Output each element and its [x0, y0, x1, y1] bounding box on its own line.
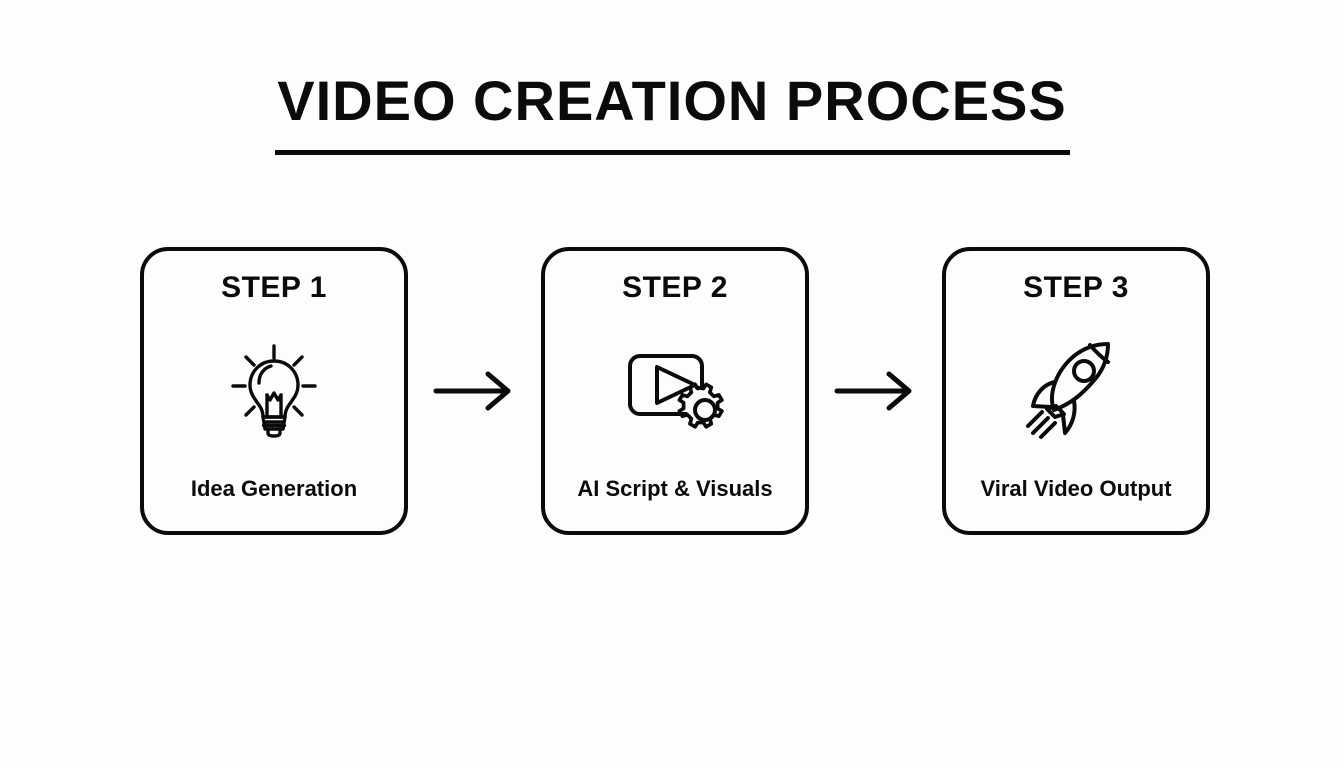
arrow-right-icon-1 [425, 368, 525, 414]
page-title: VIDEO CREATION PROCESS [0, 72, 1344, 131]
step-3-label: Viral Video Output [980, 477, 1171, 531]
lightbulb-icon [144, 304, 404, 477]
step-1-label: Idea Generation [191, 477, 357, 531]
title-underline-rule [275, 150, 1070, 155]
step-card-2[interactable]: STEP 2 AI Script & Visuals [541, 247, 809, 535]
step-card-1[interactable]: STEP 1 [140, 247, 408, 535]
step-card-3[interactable]: STEP 3 Viral Video Output [942, 247, 1210, 535]
step-1-heading: STEP 1 [221, 271, 327, 304]
process-steps-row: STEP 1 [140, 247, 1210, 535]
step-2-heading: STEP 2 [622, 271, 728, 304]
video-gear-icon [545, 304, 805, 477]
arrow-right-icon-2 [826, 368, 926, 414]
step-2-label: AI Script & Visuals [577, 477, 772, 531]
rocket-icon [946, 304, 1206, 477]
step-3-heading: STEP 3 [1023, 271, 1129, 304]
